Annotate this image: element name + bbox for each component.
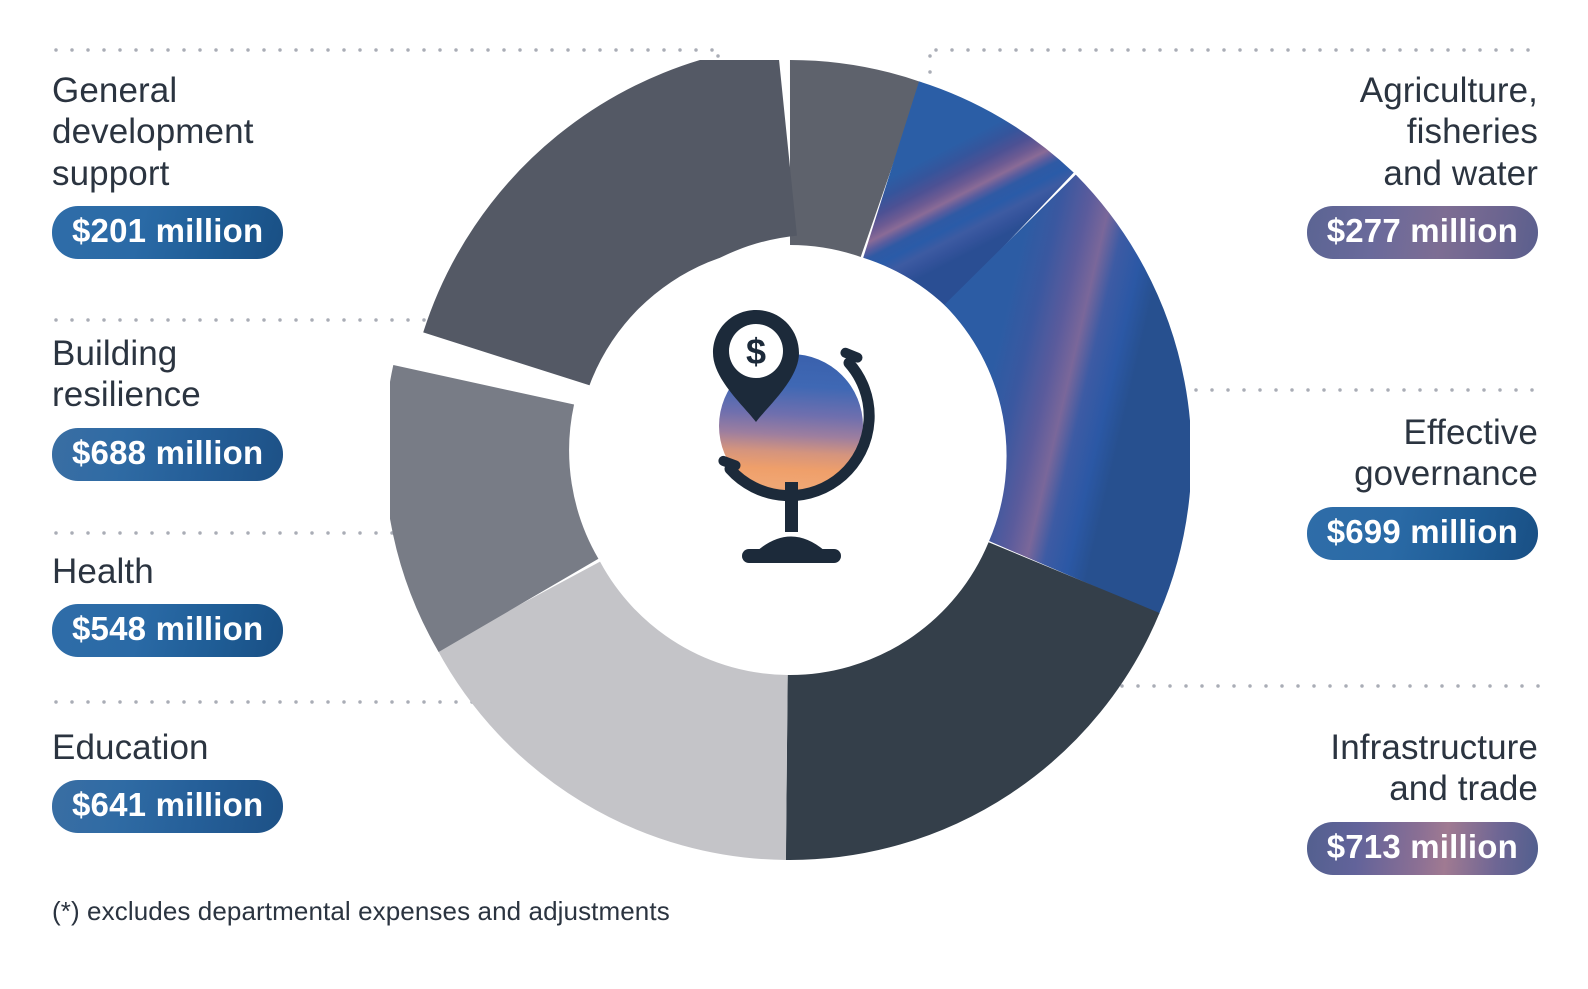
globe-icon-svg: $	[694, 306, 884, 574]
globe-stand-post	[785, 482, 798, 532]
globe-stand-base	[742, 549, 841, 563]
slice-general-development-support[interactable]	[790, 153, 891, 170]
label-building-resilience: Building resilience $688 million	[52, 333, 362, 481]
label-health: Health $548 million	[52, 551, 362, 657]
leader-line-agriculture-fisheries-water	[928, 48, 1540, 52]
dollar-sign-glyph: $	[746, 331, 766, 372]
globe-stand-cone	[757, 537, 825, 552]
label-category-health: Health	[52, 551, 362, 592]
label-category-effective-governance: Effective governance	[1200, 412, 1538, 495]
label-category-building-resilience: Building resilience	[52, 333, 362, 416]
slice-effective-governance[interactable]	[1010, 240, 1099, 578]
label-agriculture-fisheries-and-water: Agriculture, fisheries and water $277 mi…	[1200, 70, 1538, 259]
label-category-general-development-support: General development support	[52, 70, 362, 194]
slice-agriculture-fisheries-and-water[interactable]	[891, 170, 1010, 240]
label-education: Education $641 million	[52, 727, 362, 833]
value-pill-health[interactable]: $548 million	[52, 604, 283, 657]
value-pill-education[interactable]: $641 million	[52, 780, 283, 833]
label-category-agriculture-fisheries-and-water: Agriculture, fisheries and water	[1200, 70, 1538, 194]
value-pill-effective-governance[interactable]: $699 million	[1307, 507, 1538, 560]
slice-health[interactable]	[477, 385, 519, 606]
value-pill-general-development-support[interactable]: $201 million	[52, 206, 283, 259]
footnote: (*) excludes departmental expenses and a…	[52, 896, 670, 927]
value-pill-agriculture-fisheries-and-water[interactable]: $277 million	[1307, 206, 1538, 259]
leader-line-general-development-support	[48, 48, 720, 52]
label-effective-governance: Effective governance $699 million	[1200, 412, 1538, 560]
globe-icon: $	[694, 306, 884, 574]
value-pill-infrastructure-and-trade[interactable]: $713 million	[1307, 822, 1538, 875]
infographic-canvas: $ General development support $201 milli…	[0, 0, 1588, 989]
value-pill-building-resilience[interactable]: $688 million	[52, 428, 283, 481]
label-general-development-support: General development support $201 million	[52, 70, 362, 259]
label-category-infrastructure-and-trade: Infrastructure and trade	[1200, 727, 1538, 810]
label-category-education: Education	[52, 727, 362, 768]
label-infrastructure-and-trade: Infrastructure and trade $713 million	[1200, 727, 1538, 875]
